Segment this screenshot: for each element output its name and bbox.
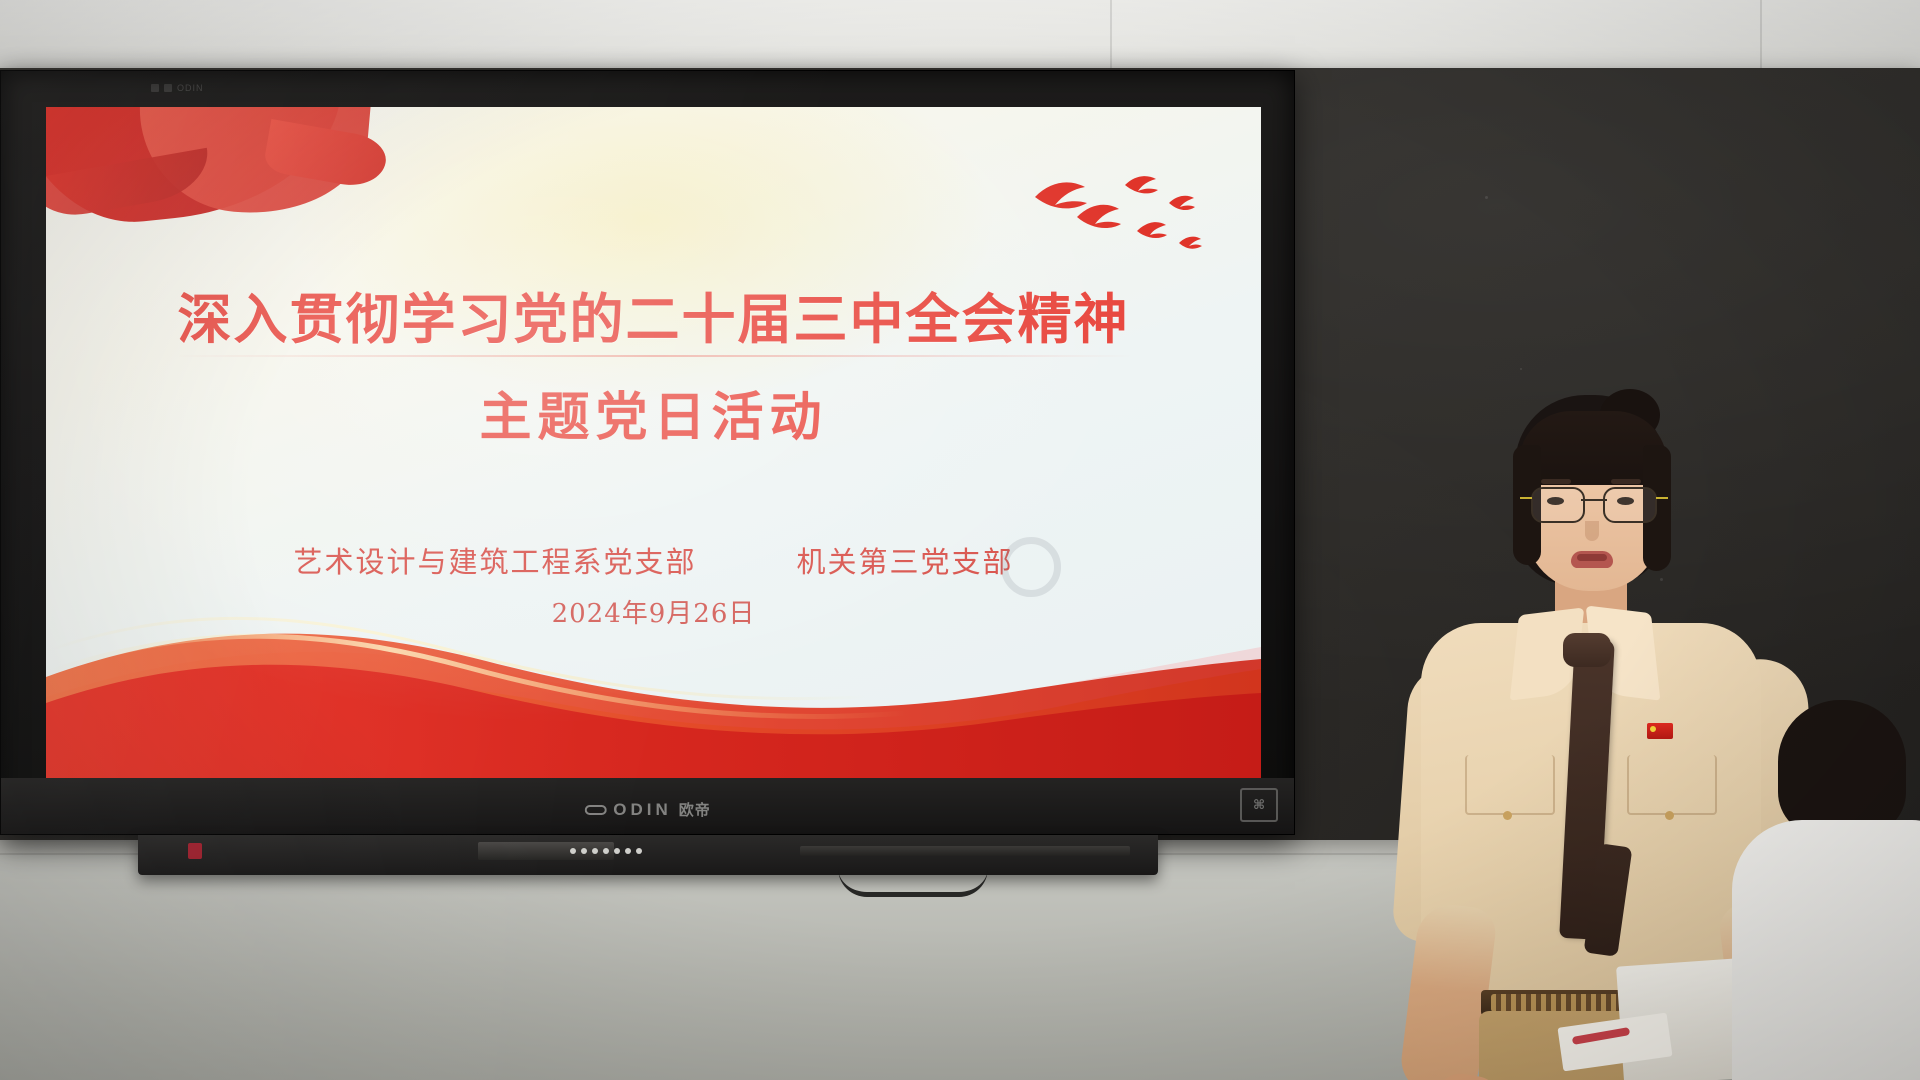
presenter-eyebrow-left — [1541, 479, 1571, 484]
presenter-mouth-inner — [1577, 554, 1607, 561]
presenter-scarf-knot — [1563, 633, 1611, 667]
presenter-pocket-right — [1627, 755, 1717, 815]
display-cable — [838, 868, 988, 897]
wall-seam — [1110, 0, 1112, 68]
odin-brand-logo: ODIN 欧帝 — [584, 799, 711, 820]
mount-vent-dots — [570, 848, 642, 854]
presenter-nose — [1585, 521, 1599, 541]
odin-chinese-name: 欧帝 — [679, 799, 711, 820]
party-emblem-pin-icon — [1647, 723, 1673, 739]
presenter-eyebrow-right — [1611, 479, 1641, 484]
odin-wordmark: ODIN — [613, 800, 672, 820]
wall-top-strip — [0, 0, 1920, 66]
seated-attendee — [1768, 700, 1920, 1080]
classroom-photo-scene: ODIN — [0, 0, 1920, 1080]
wall-seam — [1760, 0, 1762, 68]
mount-indicator — [188, 843, 202, 859]
bezel-badge-icon: ⌘ — [1240, 788, 1278, 822]
attendee-head — [1778, 700, 1906, 836]
odin-mark-icon — [584, 803, 606, 817]
display-inner-shadow — [1, 71, 1294, 834]
presenter-pocket-button-left — [1503, 811, 1512, 820]
glasses-icon — [1531, 487, 1657, 521]
attendee-shoulders — [1732, 820, 1920, 1080]
display-bottom-bezel: ODIN 欧帝 ⌘ — [1, 778, 1294, 834]
mount-rail — [800, 846, 1130, 856]
presenter-pocket-left — [1465, 755, 1555, 815]
interactive-display[interactable]: ODIN — [0, 70, 1295, 835]
presenter-pocket-button-right — [1665, 811, 1674, 820]
